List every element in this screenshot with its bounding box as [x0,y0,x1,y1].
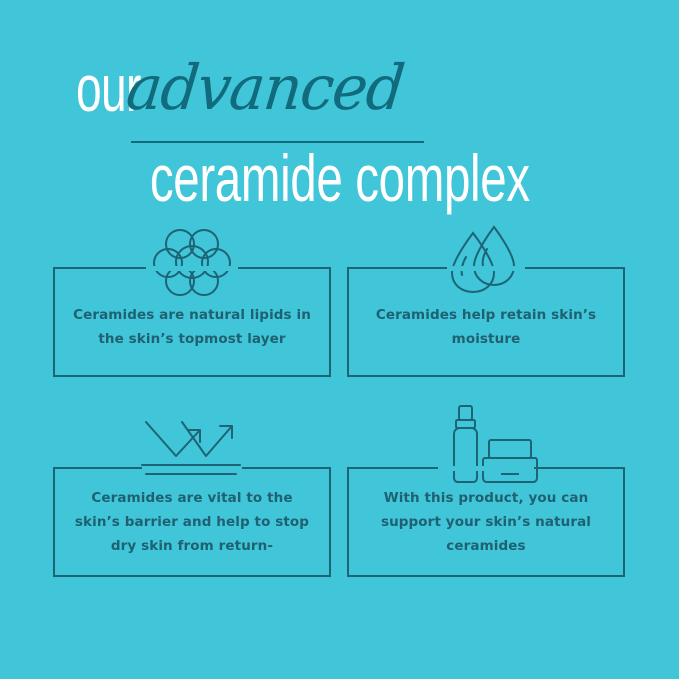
benefit-card-1: Ceramides are natural lipids in the skin… [53,267,331,377]
benefit-card-1-text: Ceramides are natural lipids in the skin… [55,303,329,351]
card-3-border-notch [142,466,242,471]
card-2-border-notch [447,266,525,271]
benefit-card-1-box: Ceramides are natural lipids in the skin… [53,267,331,377]
benefit-card-3-text: Ceramides are vital to the skin’s barrie… [55,486,329,558]
benefit-card-grid: Ceramides are natural lipids in the skin… [53,267,625,577]
benefit-card-4-text: With this product, you can support your … [349,486,623,558]
card-1-border-notch [146,266,238,271]
infographic-canvas: our advanced ceramide complex [0,0,679,679]
benefit-card-3-box: Ceramides are vital to the skin’s barrie… [53,467,331,577]
headline-ceramide-complex: ceramide complex [150,142,530,214]
page-title: our advanced ceramide complex [0,52,679,214]
benefit-card-3: Ceramides are vital to the skin’s barrie… [53,467,331,577]
benefit-card-2-box: Ceramides help retain skin’s moisture [347,267,625,377]
benefit-card-4-box: With this product, you can support your … [347,467,625,577]
benefit-card-4: With this product, you can support your … [347,467,625,577]
headline-word-advanced: advanced [123,52,407,124]
card-row-2: Ceramides are vital to the skin’s barrie… [53,467,625,577]
card-row-1: Ceramides are natural lipids in the skin… [53,267,625,377]
benefit-card-2-text: Ceramides help retain skin’s moisture [349,303,623,351]
headline-line-1: our advanced [0,52,679,124]
benefit-card-2: Ceramides help retain skin’s moisture [347,267,625,377]
headline-line-2: ceramide complex [0,142,679,214]
card-4-border-notch [438,466,534,471]
headline-word-advanced-wrap: advanced [127,52,415,141]
